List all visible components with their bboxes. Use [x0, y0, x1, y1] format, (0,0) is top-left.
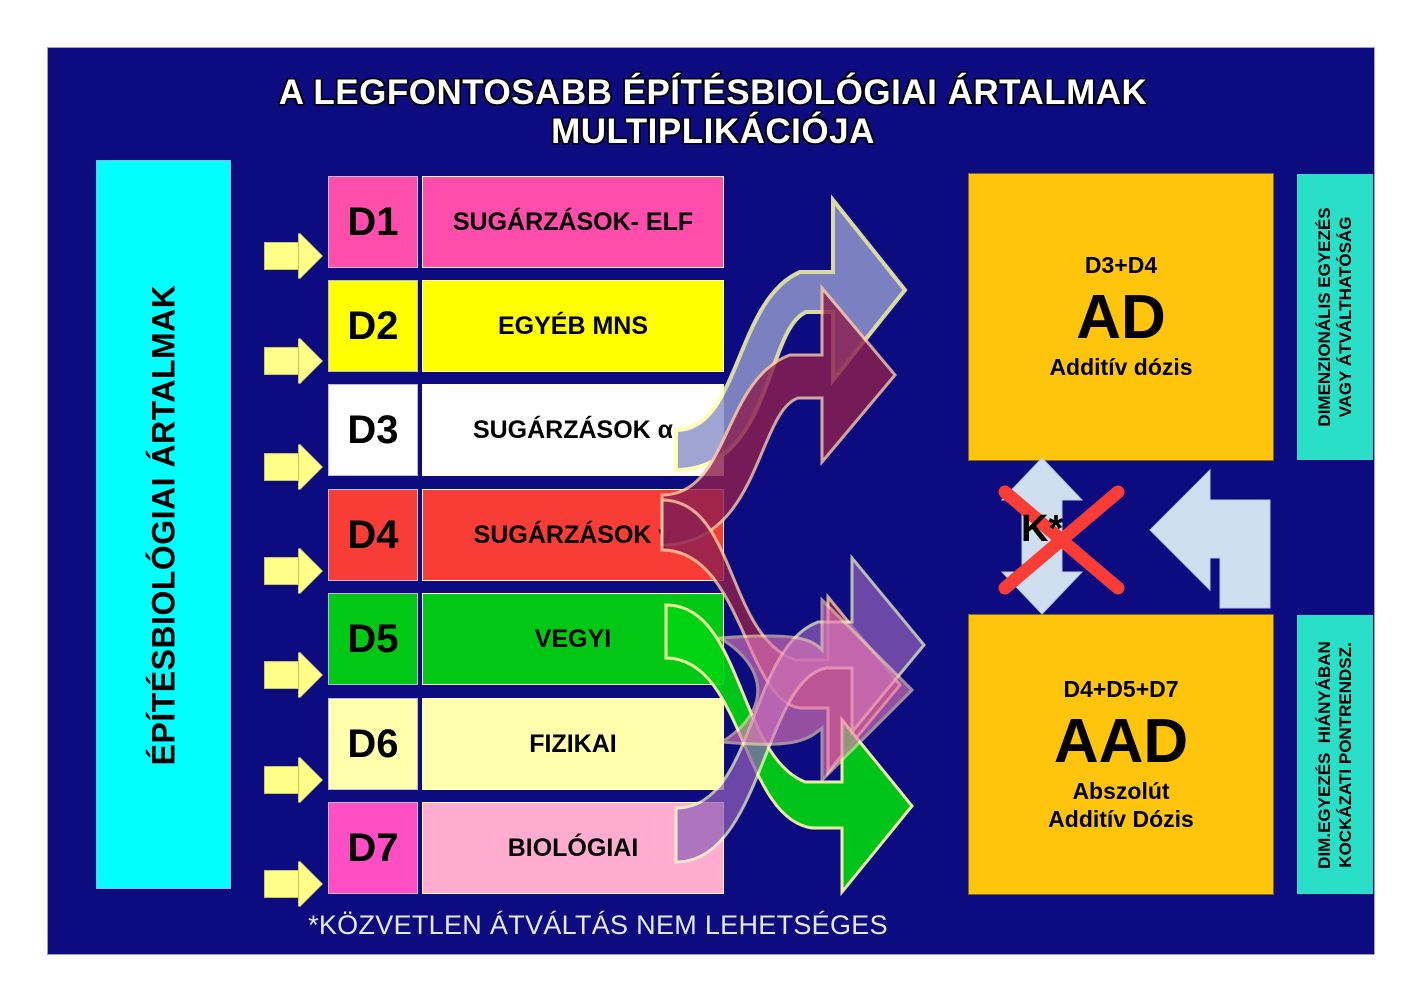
- hazards-group-label: ÉPÍTÉSBIOLÓGIAI ÁRTALMAK: [145, 284, 182, 765]
- arrow-shaft: [264, 347, 300, 375]
- note-strip-ad: DIMENZIONÁLIS EGYEZÉS VAGY ÁTVÁLTHATÓSÁG: [1296, 173, 1374, 461]
- hazard-name-d2[interactable]: EGYÉB MNS: [422, 280, 724, 372]
- result-box-ad[interactable]: D3+D4 AD Additív dózis: [968, 173, 1274, 461]
- page-title: A LEGFONTOSABB ÉPÍTÉSBIOLÓGIAI ÁRTALMAK …: [168, 73, 1258, 151]
- diagram-root: A LEGFONTOSABB ÉPÍTÉSBIOLÓGIAI ÁRTALMAK …: [0, 0, 1403, 992]
- arrow-head-icon: [299, 652, 322, 698]
- feeder-arrow-d2: [264, 338, 322, 384]
- hazard-name-d4[interactable]: SUGÁRZÁSOK γ: [422, 489, 724, 581]
- hazard-name-d7[interactable]: BIOLÓGIAI: [422, 802, 724, 894]
- hazard-name-d1[interactable]: SUGÁRZÁSOK- ELF: [422, 176, 724, 268]
- feeder-arrow-d4: [264, 548, 322, 594]
- hazard-code-d6[interactable]: D6: [328, 698, 418, 790]
- arrow-shaft: [264, 661, 300, 689]
- arrow-head-icon: [299, 444, 322, 490]
- feeder-arrow-d6: [264, 757, 322, 803]
- arrow-shaft: [264, 557, 300, 585]
- arrow-shaft: [264, 870, 300, 898]
- note-strip-ad-text: DIMENZIONÁLIS EGYEZÉS VAGY ÁTVÁLTHATÓSÁG: [1314, 207, 1357, 426]
- diagram-panel: A LEGFONTOSABB ÉPÍTÉSBIOLÓGIAI ÁRTALMAK …: [47, 47, 1375, 955]
- blocked-connector-label: K*: [1021, 508, 1063, 551]
- arrow-shaft: [264, 453, 300, 481]
- hazard-name-d6[interactable]: FIZIKAI: [422, 698, 724, 790]
- hazard-name-d5[interactable]: VEGYI: [422, 593, 724, 685]
- hazard-code-d3[interactable]: D3: [328, 384, 418, 476]
- arrow-shaft: [264, 766, 300, 794]
- note-strip-aad: DIM.EGYEZÉS HIÁNYÁBAN KOCKÁZATI PONTREND…: [1296, 614, 1374, 895]
- hazard-code-d4[interactable]: D4: [328, 489, 418, 581]
- feeder-arrow-d7: [264, 861, 322, 907]
- hazard-name-d3[interactable]: SUGÁRZÁSOK α: [422, 384, 724, 476]
- feeder-arrow-d5: [264, 652, 322, 698]
- arrow-head-icon: [299, 233, 322, 279]
- arrow-head-icon: [299, 338, 322, 384]
- feeder-arrow-d3: [264, 444, 322, 490]
- arrow-head-icon: [299, 757, 322, 803]
- arrow-head-icon: [299, 861, 322, 907]
- result-desc-ad: Additív dózis: [1049, 354, 1192, 382]
- feeder-arrow-d1: [264, 233, 322, 279]
- arrow-shaft: [264, 242, 300, 270]
- hazard-code-d1[interactable]: D1: [328, 176, 418, 268]
- result-desc-aad: Abszolút Additív Dózis: [1048, 778, 1194, 833]
- arrow-head-icon: [299, 548, 322, 594]
- result-abbr-ad: AD: [1076, 285, 1166, 350]
- result-box-aad[interactable]: D4+D5+D7 AAD Abszolút Additív Dózis: [968, 614, 1274, 895]
- result-abbr-aad: AAD: [1054, 709, 1188, 774]
- hazard-code-d7[interactable]: D7: [328, 802, 418, 894]
- footnote: *KÖZVETLEN ÁTVÁLTÁS NEM LEHETSÉGES: [198, 910, 998, 941]
- hazard-code-d5[interactable]: D5: [328, 593, 418, 685]
- result-sum-aad: D4+D5+D7: [1063, 676, 1178, 703]
- blocked-connector: K*: [965, 450, 1155, 630]
- hazard-code-d2[interactable]: D2: [328, 280, 418, 372]
- result-sum-ad: D3+D4: [1085, 252, 1157, 279]
- note-strip-aad-text: DIM.EGYEZÉS HIÁNYÁBAN KOCKÁZATI PONTREND…: [1314, 641, 1357, 869]
- hazards-group-band: ÉPÍTÉSBIOLÓGIAI ÁRTALMAK: [96, 160, 231, 889]
